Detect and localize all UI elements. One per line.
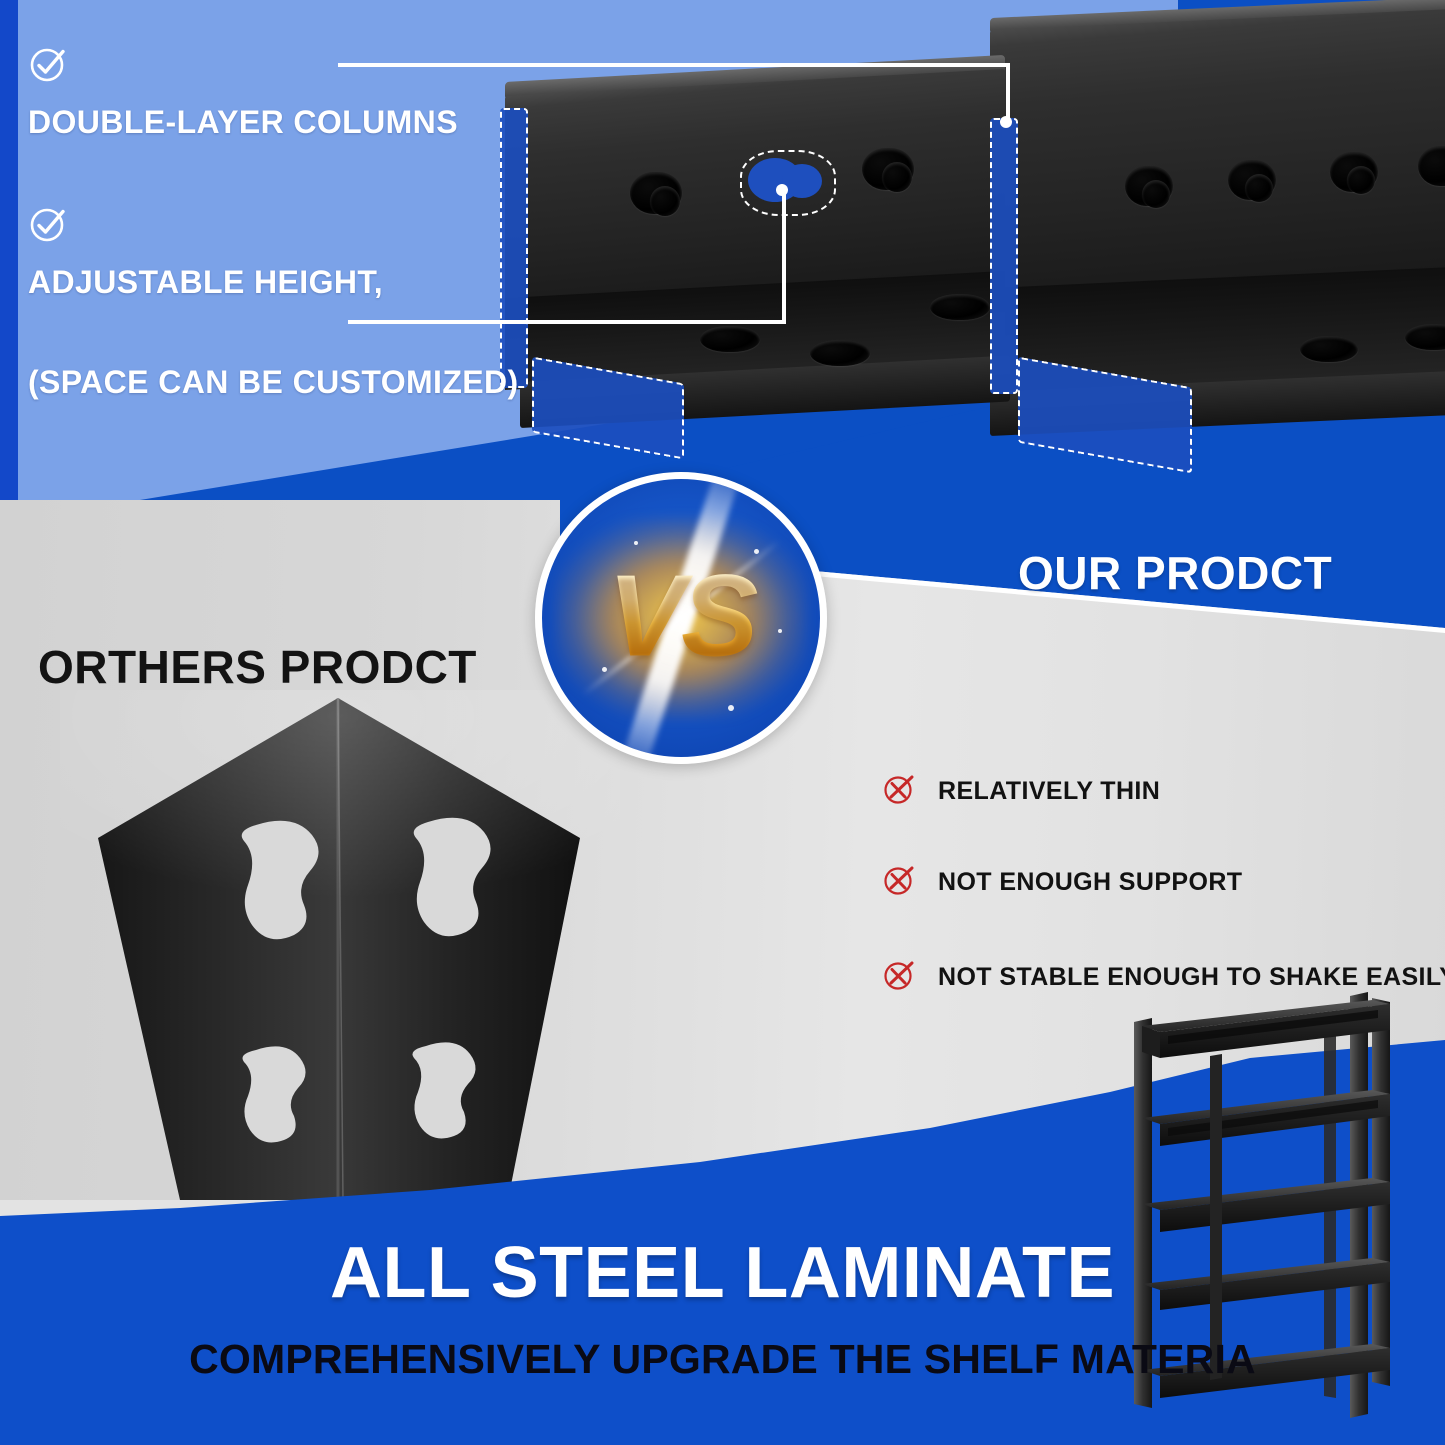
others-product-image xyxy=(60,690,620,1200)
vs-badge: VS xyxy=(535,472,827,764)
feature-item-2: ADJUSTABLE HEIGHT, xyxy=(28,204,383,300)
highlighted-slot-outline xyxy=(740,150,836,216)
banner-title: ALL STEEL LAMINATE xyxy=(0,1232,1445,1314)
feature-item-1: DOUBLE-LAYER COLUMNS xyxy=(28,44,458,140)
drawback-label-1: RELATIVELY THIN xyxy=(938,777,1160,806)
banner-subtitle: COMPREHENSIVELY UPGRADE THE SHELF MATERI… xyxy=(0,1336,1445,1383)
check-circle-icon xyxy=(28,44,68,84)
feature-label-1: DOUBLE-LAYER COLUMNS xyxy=(28,106,458,140)
front-column-edge-marker xyxy=(500,108,528,388)
others-product-title: ORTHERS PRODCT xyxy=(38,640,477,694)
check-circle-icon xyxy=(28,204,68,244)
rear-column-edge-marker xyxy=(990,118,1018,394)
circle-x-icon xyxy=(882,958,916,997)
our-product-title: OUR PRODCT xyxy=(1018,546,1332,600)
left-accent-strip xyxy=(0,0,18,516)
drawbacks-list: RELATIVELY THIN NOT ENOUGH SUPPORT N xyxy=(882,772,1445,997)
drawback-item-2: NOT ENOUGH SUPPORT xyxy=(882,863,1445,902)
circle-x-icon xyxy=(882,863,916,902)
feature-label-3: (SPACE CAN BE CUSTOMIZED) xyxy=(28,366,519,400)
top-feature-section: DOUBLE-LAYER COLUMNS ADJUSTABLE HEIGHT, … xyxy=(0,0,1445,540)
product-infographic: DOUBLE-LAYER COLUMNS ADJUSTABLE HEIGHT, … xyxy=(0,0,1445,1445)
drawback-item-1: RELATIVELY THIN xyxy=(882,772,1445,811)
circle-x-icon xyxy=(882,772,916,811)
vs-label: VS xyxy=(542,548,820,682)
feature-label-2: ADJUSTABLE HEIGHT, xyxy=(28,266,383,300)
drawback-label-2: NOT ENOUGH SUPPORT xyxy=(938,868,1242,897)
